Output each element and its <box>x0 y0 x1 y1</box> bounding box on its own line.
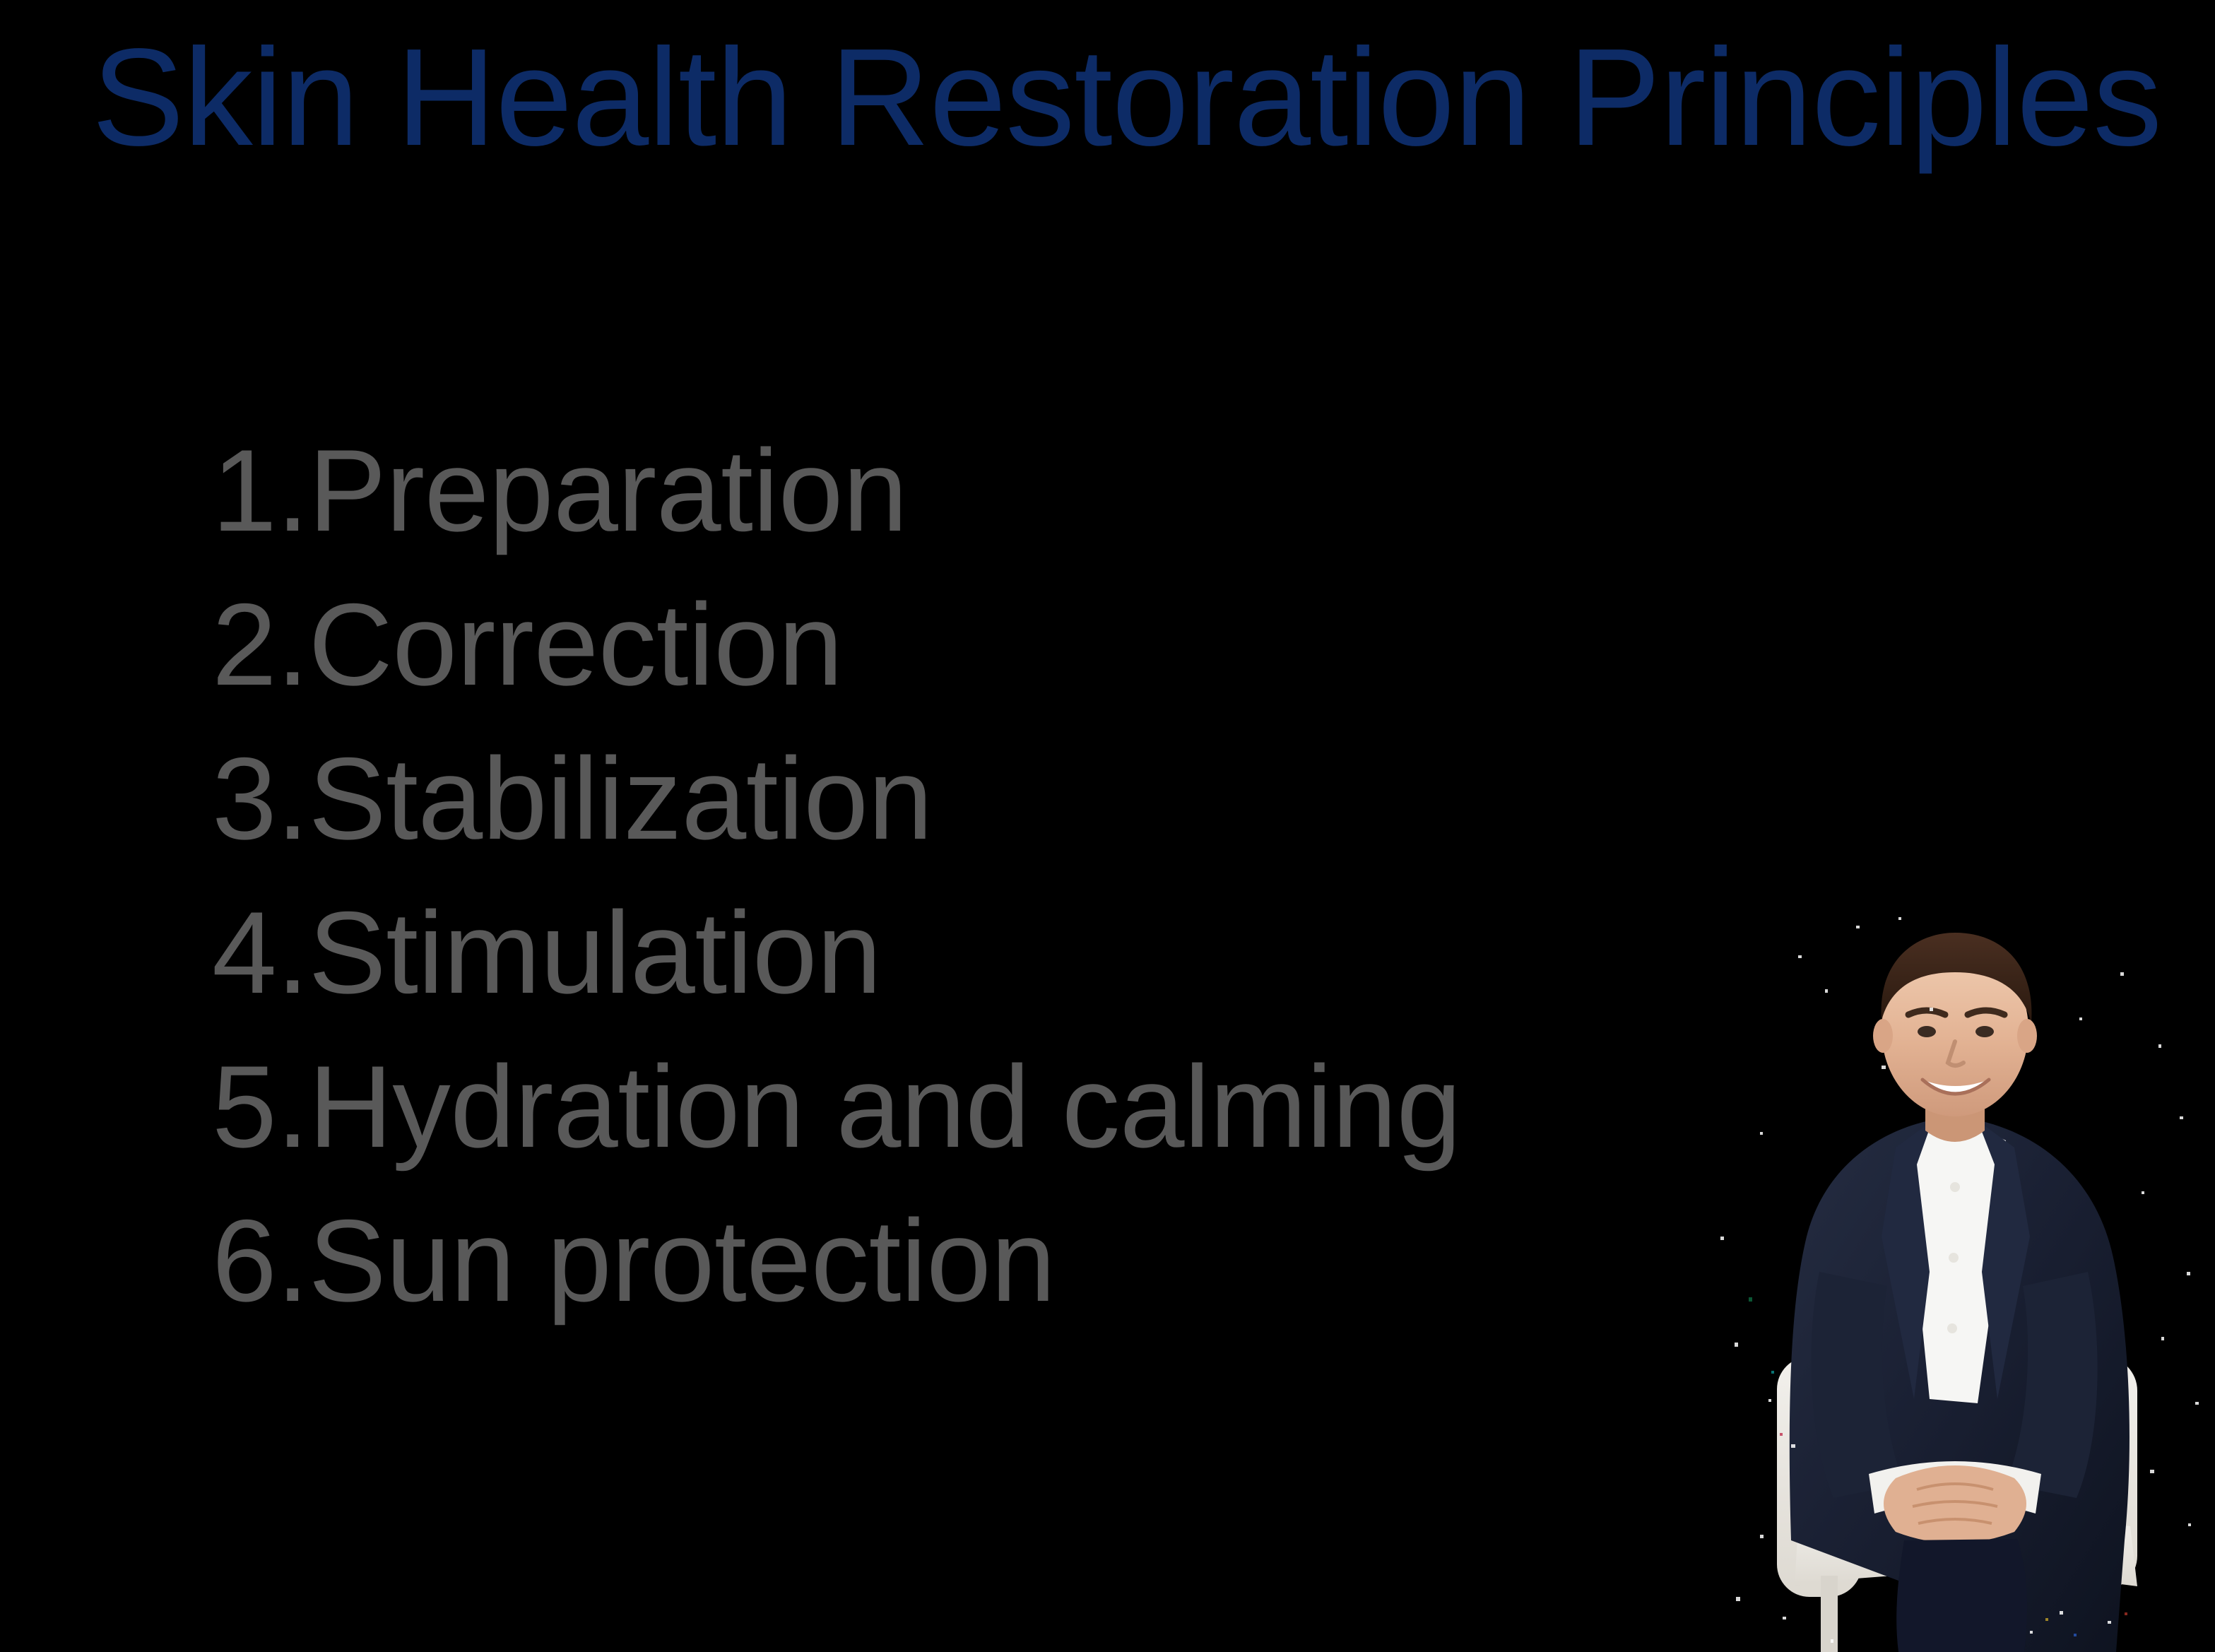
list-item: 5. Hydration and calming <box>212 1029 1696 1184</box>
list-item-number: 4. <box>212 875 309 1029</box>
list-item-label: Hydration and calming <box>309 1029 1461 1184</box>
list-item-label: Stabilization <box>309 721 933 875</box>
list-item-label: Sun protection <box>309 1184 1056 1338</box>
list-item-number: 6. <box>212 1184 309 1338</box>
list-item-number: 5. <box>212 1029 309 1184</box>
list-item-label: Stimulation <box>309 875 882 1029</box>
presentation-slide: Skin Health Restoration Principles 1. Pr… <box>0 0 2215 1652</box>
slide-title: Skin Health Restoration Principles <box>92 28 2141 167</box>
list-item: 2. Correction <box>212 567 1696 721</box>
principles-list: 1. Preparation 2. Correction 3. Stabiliz… <box>212 413 1696 1338</box>
list-item: 3. Stabilization <box>212 721 1696 875</box>
presenter-photo <box>1692 904 2215 1652</box>
list-item: 6. Sun protection <box>212 1184 1696 1338</box>
list-item: 1. Preparation <box>212 413 1696 567</box>
list-item: 4. Stimulation <box>212 875 1696 1029</box>
list-item-number: 2. <box>212 567 309 721</box>
list-item-label: Correction <box>309 567 843 721</box>
head-shape <box>1873 933 2037 1116</box>
list-item-number: 3. <box>212 721 309 875</box>
legs-shape <box>1896 1539 2027 1652</box>
hands-shape <box>1884 1465 2026 1543</box>
list-item-label: Preparation <box>309 413 908 567</box>
list-item-number: 1. <box>212 413 309 567</box>
